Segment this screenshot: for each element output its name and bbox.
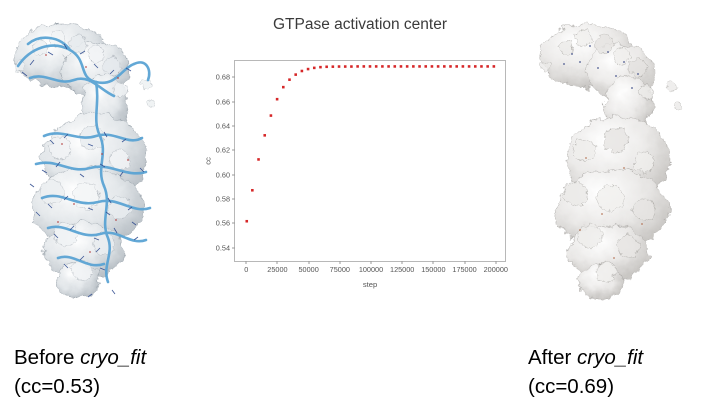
y-tick-mark [232, 199, 235, 200]
caption-before-cc: (cc=0.53) [14, 372, 146, 401]
data-point [393, 65, 396, 68]
x-tick-label: 25000 [267, 265, 287, 274]
x-tick-label: 50000 [298, 265, 318, 274]
data-point [319, 66, 322, 69]
data-point [424, 65, 427, 68]
x-tick-mark [495, 261, 496, 264]
data-point [332, 65, 335, 68]
y-tick-mark [232, 223, 235, 224]
x-axis-label: step [234, 280, 506, 289]
data-point [486, 65, 489, 68]
data-point [257, 158, 260, 161]
x-tick-label: 75000 [330, 265, 350, 274]
structure-before [0, 8, 200, 323]
data-point [276, 98, 279, 101]
data-point [307, 68, 310, 71]
ribosome-render-before [0, 8, 200, 323]
x-tick-mark [402, 261, 403, 264]
cc-convergence-chart-panel: GTPase activation center 0.540.560.580.6… [200, 0, 520, 409]
data-point [325, 65, 328, 68]
data-point [418, 65, 421, 68]
x-tick-label: 200000 [484, 265, 508, 274]
x-tick-mark [433, 261, 434, 264]
data-point [356, 65, 359, 68]
x-tick-mark [308, 261, 309, 264]
data-point [449, 65, 452, 68]
data-point [294, 73, 297, 76]
x-tick-label: 0 [244, 265, 248, 274]
x-tick-label: 125000 [390, 265, 414, 274]
x-tick-mark [277, 261, 278, 264]
x-tick-label: 100000 [359, 265, 383, 274]
y-tick-mark [232, 126, 235, 127]
data-point [375, 65, 378, 68]
x-tick-label: 175000 [452, 265, 476, 274]
y-tick-label: 0.68 [216, 73, 230, 82]
y-tick-label: 0.66 [216, 97, 230, 106]
data-point [437, 65, 440, 68]
data-point [263, 134, 266, 137]
y-tick-label: 0.54 [216, 243, 230, 252]
data-point [400, 65, 403, 68]
caption-before-program: cryo_fit [80, 346, 146, 369]
data-point [431, 65, 434, 68]
x-tick-mark [339, 261, 340, 264]
data-point [350, 65, 353, 68]
data-point [468, 65, 471, 68]
data-point [363, 65, 366, 68]
data-point [288, 78, 291, 81]
x-tick-mark [464, 261, 465, 264]
data-point [338, 65, 341, 68]
chart-title: GTPase activation center [200, 16, 520, 34]
before-cryo-fit-panel: Before cryo_fit (cc=0.53) [0, 0, 200, 409]
scatter-series-cc [235, 61, 505, 261]
caption-after-program: cryo_fit [577, 346, 643, 369]
y-tick-mark [232, 101, 235, 102]
data-point [344, 65, 347, 68]
data-point [443, 65, 446, 68]
y-tick-label: 0.58 [216, 195, 230, 204]
data-point [301, 70, 304, 73]
data-point [455, 65, 458, 68]
y-axis-label: cc [204, 157, 213, 165]
y-tick-mark [232, 174, 235, 175]
y-tick-mark [232, 247, 235, 248]
y-tick-label: 0.56 [216, 219, 230, 228]
y-tick-mark [232, 150, 235, 151]
data-point [406, 65, 409, 68]
caption-before-prefix: Before [14, 346, 80, 369]
y-tick-label: 0.62 [216, 146, 230, 155]
data-point [313, 67, 316, 70]
ribosome-render-after [520, 8, 720, 323]
data-point [474, 65, 477, 68]
caption-after: After cryo_fit (cc=0.69) [528, 343, 643, 401]
y-tick-mark [232, 77, 235, 78]
data-point [493, 65, 496, 68]
x-tick-mark [246, 261, 247, 264]
plot-area: 0.540.560.580.600.620.640.660.6802500050… [234, 60, 506, 262]
after-cryo-fit-panel: After cryo_fit (cc=0.69) [520, 0, 720, 409]
x-tick-label: 150000 [421, 265, 445, 274]
data-point [369, 65, 372, 68]
data-point [412, 65, 415, 68]
structure-after [520, 8, 720, 323]
chart-figure: GTPase activation center 0.540.560.580.6… [200, 0, 520, 300]
data-point [251, 189, 254, 192]
data-point [480, 65, 483, 68]
data-point [282, 86, 285, 89]
data-point [270, 114, 273, 117]
caption-after-cc: (cc=0.69) [528, 372, 643, 401]
y-tick-label: 0.60 [216, 170, 230, 179]
x-tick-mark [371, 261, 372, 264]
data-point [387, 65, 390, 68]
data-point [245, 220, 248, 223]
caption-after-prefix: After [528, 346, 577, 369]
data-point [381, 65, 384, 68]
caption-before: Before cryo_fit (cc=0.53) [14, 343, 146, 401]
y-tick-label: 0.64 [216, 122, 230, 131]
data-point [462, 65, 465, 68]
